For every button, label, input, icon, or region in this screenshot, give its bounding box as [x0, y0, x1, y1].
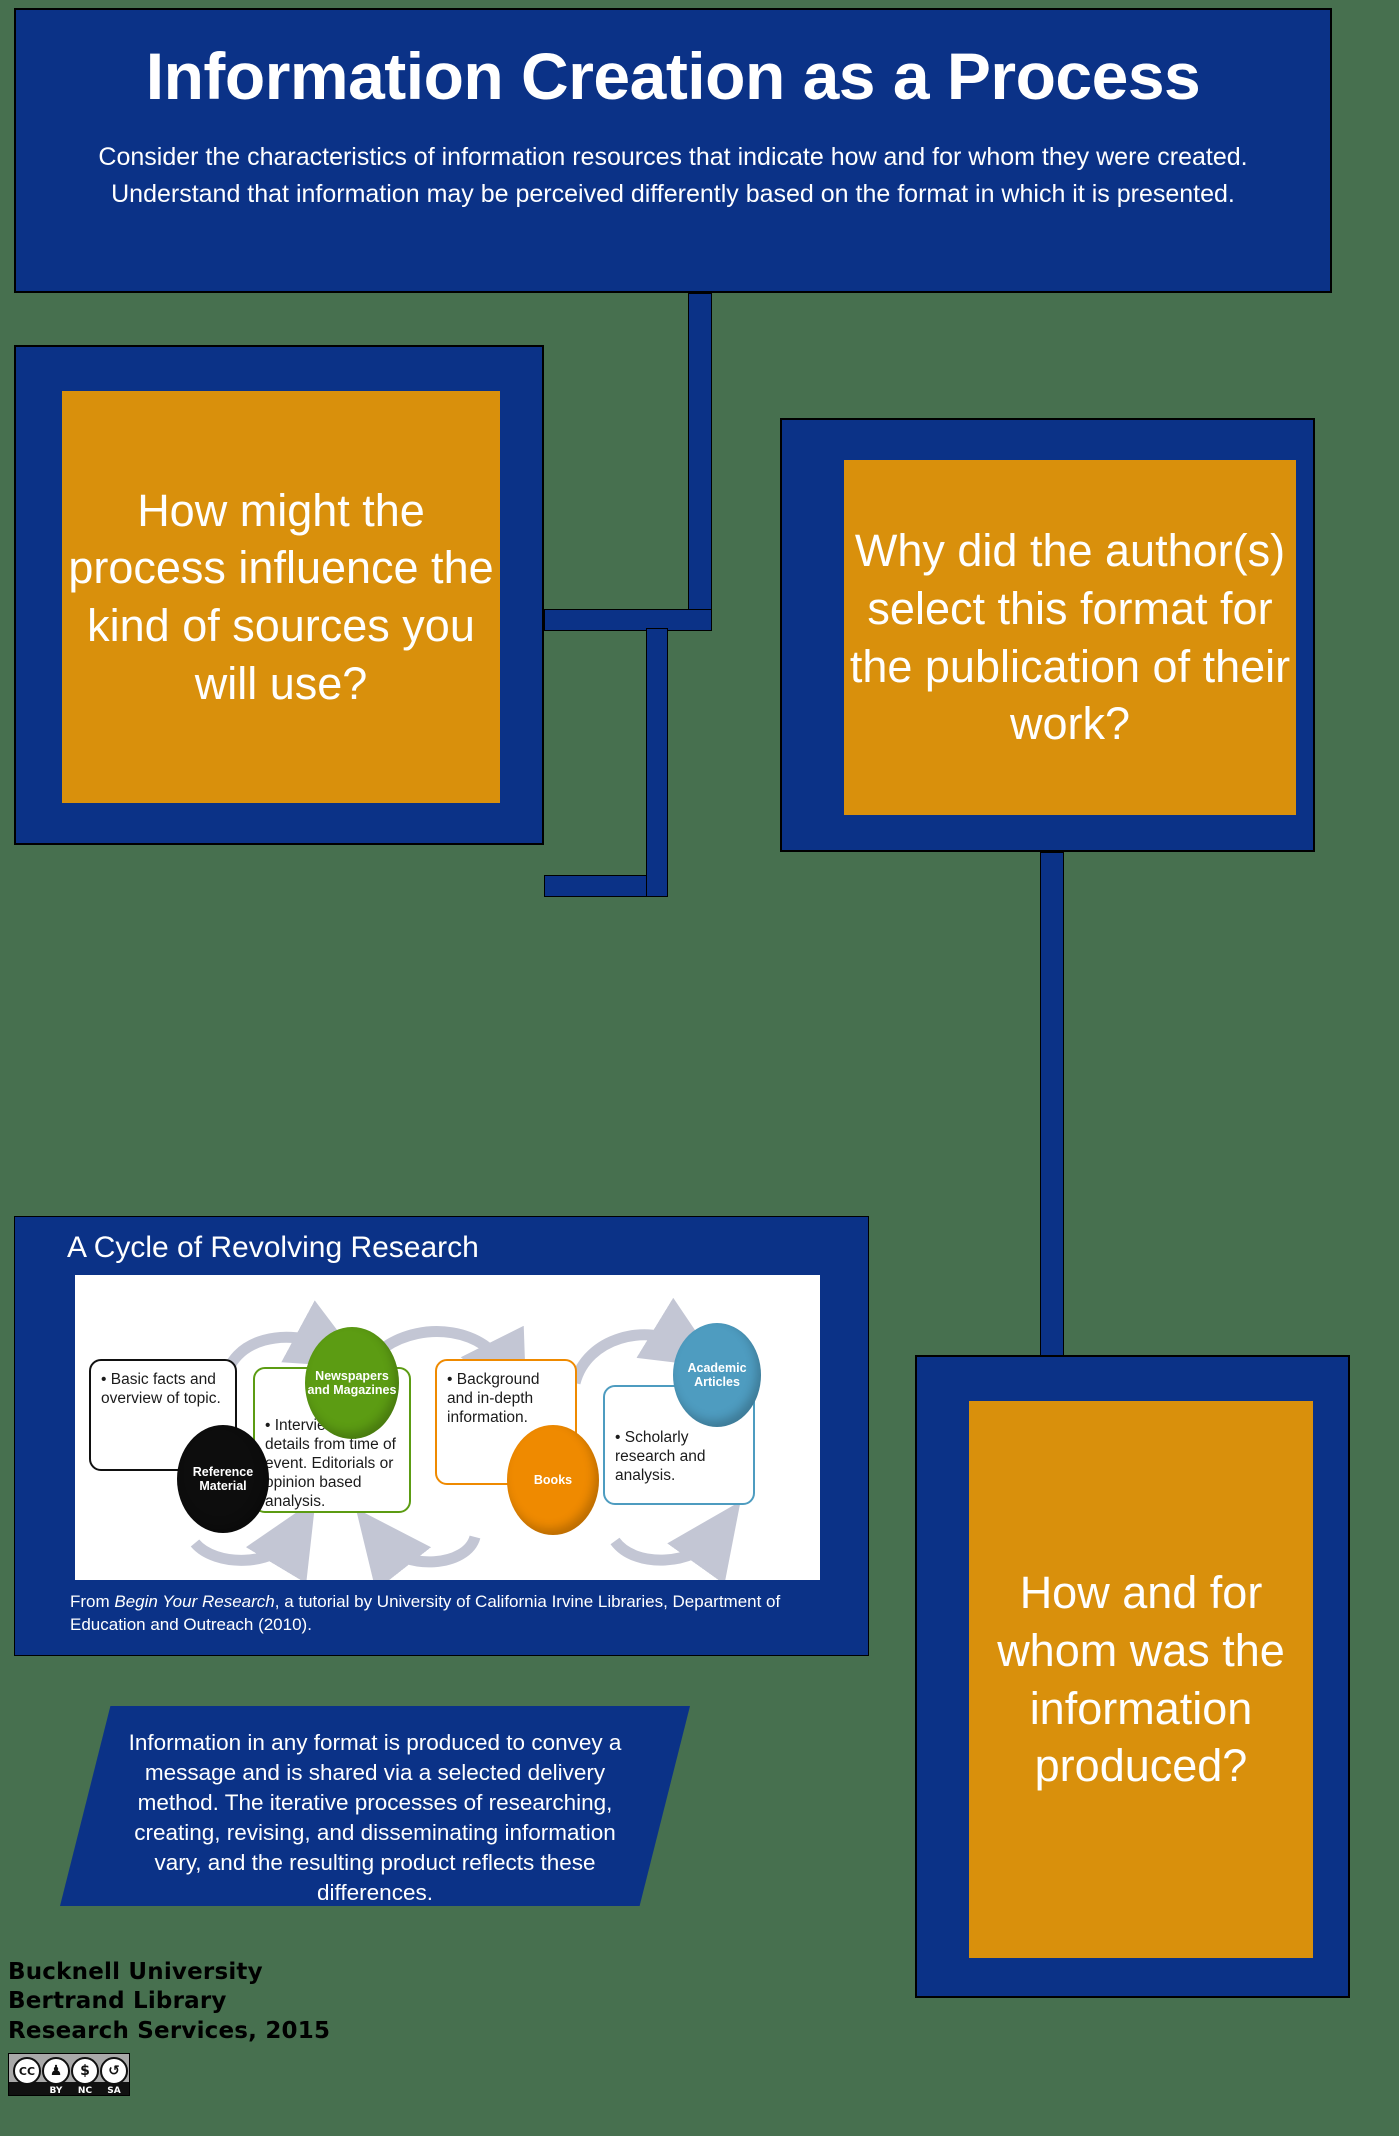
- question-card-1[interactable]: How might the process influence the kind…: [14, 345, 544, 845]
- cc-logo-icon: CC: [13, 2057, 41, 2085]
- cycle-caption: From Begin Your Research, a tutorial by …: [70, 1591, 840, 1637]
- sharealike-circular-arrow-icon: ↺: [100, 2057, 128, 2085]
- cycle-oval-academic-articles: Academic Articles: [673, 1323, 761, 1427]
- footer-department: Research Services, 2015: [8, 2017, 408, 2046]
- cc-label-nc: NC: [71, 2086, 99, 2096]
- question-card-3[interactable]: How and for whom was the information pro…: [915, 1355, 1350, 1998]
- header-subtitle: Consider the characteristics of informat…: [16, 139, 1330, 212]
- acrl-definition-text: Information in any format is produced to…: [116, 1728, 634, 1908]
- cycle-oval-books: Books: [507, 1425, 599, 1535]
- cycle-caption-prefix: From: [70, 1592, 114, 1611]
- footer-library: Bertrand Library: [8, 1987, 408, 2016]
- cycle-panel: A Cycle of Revolving Research • Basic fa…: [14, 1216, 869, 1656]
- question-card-2[interactable]: Why did the author(s) select this format…: [780, 418, 1315, 852]
- connector-left-vertical-stub: [646, 628, 668, 897]
- acrl-definition-trapezoid: Information in any format is produced to…: [60, 1706, 690, 1906]
- page-title: Information Creation as a Process: [16, 42, 1330, 111]
- question-card-1-text: How might the process influence the kind…: [62, 391, 500, 803]
- cycle-diagram-image: • Basic facts and overview of topic. • I…: [75, 1275, 820, 1580]
- footer: Bucknell University Bertrand Library Res…: [8, 1958, 408, 2096]
- question-card-2-text: Why did the author(s) select this format…: [844, 460, 1296, 815]
- header-banner: Information Creation as a Process Consid…: [14, 8, 1332, 293]
- footer-university: Bucknell University: [8, 1958, 408, 1987]
- noncommercial-crossed-dollar-icon: $: [71, 2057, 99, 2085]
- cycle-caption-title: Begin Your Research: [114, 1592, 274, 1611]
- cycle-oval-newspapers-magazines: Newspapers and Magazines: [305, 1327, 399, 1439]
- cycle-oval-reference-material: Reference Material: [177, 1425, 269, 1533]
- cc-label-sa: SA: [100, 2086, 128, 2096]
- cc-label-by: BY: [42, 2086, 70, 2096]
- connector-header-vertical: [688, 293, 712, 628]
- connector-card2-to-card3: [1040, 852, 1064, 1372]
- connector-card1-to-card2-upper: [544, 609, 712, 631]
- creative-commons-license-badge[interactable]: CC ♟ $ ↺ BY NC SA: [8, 2053, 130, 2096]
- attribution-person-icon: ♟: [42, 2057, 70, 2085]
- cycle-panel-title: A Cycle of Revolving Research: [15, 1217, 868, 1273]
- acrl-citation: (ACRL Framework for Information Literacy…: [116, 1915, 634, 1957]
- question-card-3-text: How and for whom was the information pro…: [969, 1401, 1313, 1958]
